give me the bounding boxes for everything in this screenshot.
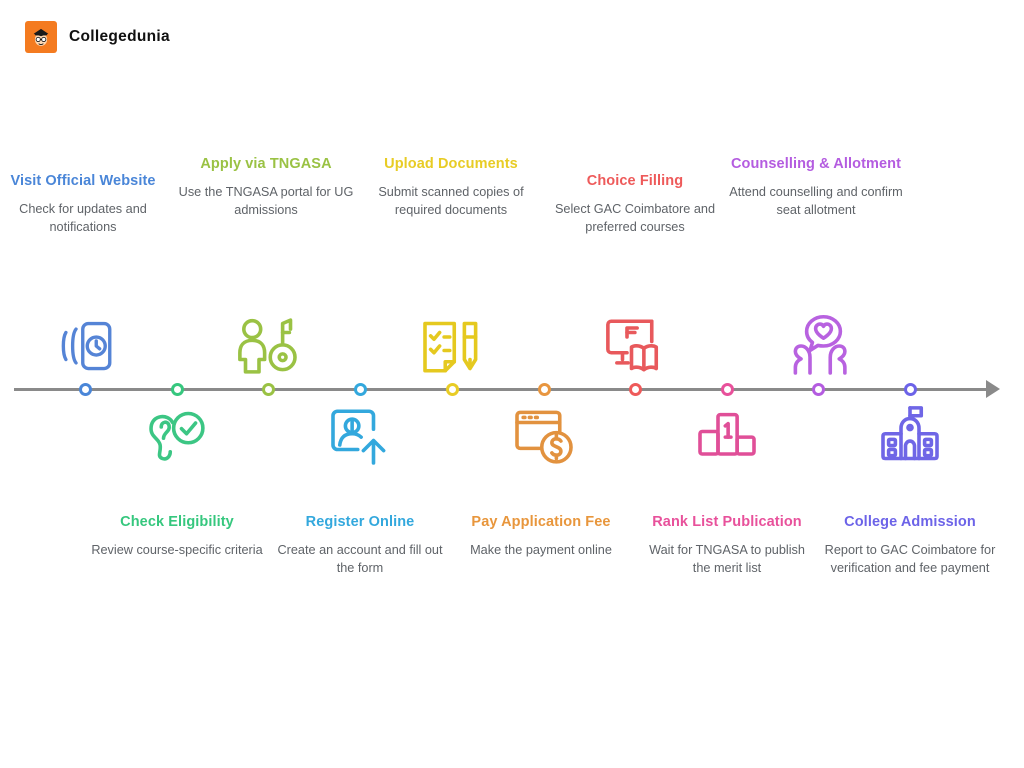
step-9-description: Attend counselling and confirm seat allo… xyxy=(728,183,904,219)
step-5-text: Upload Documents Submit scanned copies o… xyxy=(363,155,539,219)
step-7-description: Select GAC Coimbatore and preferred cour… xyxy=(547,200,723,236)
checklist-pen-icon xyxy=(416,310,488,382)
step-8-text: Rank List Publication Wait for TNGASA to… xyxy=(639,513,815,577)
step-3-description: Use the TNGASA portal for UG admissions xyxy=(178,183,354,219)
infographic-canvas: Collegedunia Visit Official Website Chec… xyxy=(0,0,1024,768)
timeline-dot-4 xyxy=(354,383,367,396)
step-6-title: Pay Application Fee xyxy=(453,513,629,532)
step-1-text: Visit Official Website Check for updates… xyxy=(0,172,171,236)
step-9-title: Counselling & Allotment xyxy=(728,155,904,174)
ear-check-icon xyxy=(141,400,213,472)
step-7-text: Choice Filling Select GAC Coimbatore and… xyxy=(547,172,723,236)
step-10-text: College Admission Report to GAC Coimbato… xyxy=(822,513,998,577)
timeline-dot-9 xyxy=(812,383,825,396)
browser-dollar-icon xyxy=(508,400,580,472)
step-2-title: Check Eligibility xyxy=(89,513,265,532)
school-building-icon xyxy=(874,400,946,472)
timeline-dot-10 xyxy=(904,383,917,396)
step-10-title: College Admission xyxy=(822,513,998,532)
step-8-description: Wait for TNGASA to publish the merit lis… xyxy=(639,541,815,577)
podium-first-place-icon xyxy=(691,400,763,472)
step-1-title: Visit Official Website xyxy=(0,172,171,191)
person-key-icon xyxy=(232,310,304,382)
timeline-dot-3 xyxy=(262,383,275,396)
step-6-text: Pay Application Fee Make the payment onl… xyxy=(453,513,629,559)
timeline-dot-6 xyxy=(538,383,551,396)
hands-heart-icon xyxy=(783,310,855,382)
step-4-text: Register Online Create an account and fi… xyxy=(272,513,448,577)
timeline-dot-5 xyxy=(446,383,459,396)
collegedunia-logo-icon xyxy=(25,21,57,53)
step-2-text: Check Eligibility Review course-specific… xyxy=(89,513,265,559)
step-5-description: Submit scanned copies of required docume… xyxy=(363,183,539,219)
step-4-title: Register Online xyxy=(272,513,448,532)
timeline-dot-1 xyxy=(79,383,92,396)
step-3-text: Apply via TNGASA Use the TNGASA portal f… xyxy=(178,155,354,219)
timeline-dot-7 xyxy=(629,383,642,396)
step-1-description: Check for updates and notifications xyxy=(0,200,171,236)
step-9-text: Counselling & Allotment Attend counselli… xyxy=(728,155,904,219)
timeline-dot-8 xyxy=(721,383,734,396)
step-7-title: Choice Filling xyxy=(547,172,723,191)
step-3-title: Apply via TNGASA xyxy=(178,155,354,174)
step-6-description: Make the payment online xyxy=(453,541,629,559)
arrow-right-icon xyxy=(986,380,1000,398)
timeline-axis xyxy=(14,388,994,391)
phone-clock-icon xyxy=(49,310,121,382)
profile-upload-icon xyxy=(324,400,396,472)
board-book-icon xyxy=(600,310,672,382)
step-8-title: Rank List Publication xyxy=(639,513,815,532)
step-10-description: Report to GAC Coimbatore for verificatio… xyxy=(822,541,998,577)
brand-name: Collegedunia xyxy=(69,28,170,46)
brand-logo-block: Collegedunia xyxy=(25,21,170,53)
step-4-description: Create an account and fill out the form xyxy=(272,541,448,577)
step-2-description: Review course-specific criteria xyxy=(89,541,265,559)
timeline-dot-2 xyxy=(171,383,184,396)
step-5-title: Upload Documents xyxy=(363,155,539,174)
